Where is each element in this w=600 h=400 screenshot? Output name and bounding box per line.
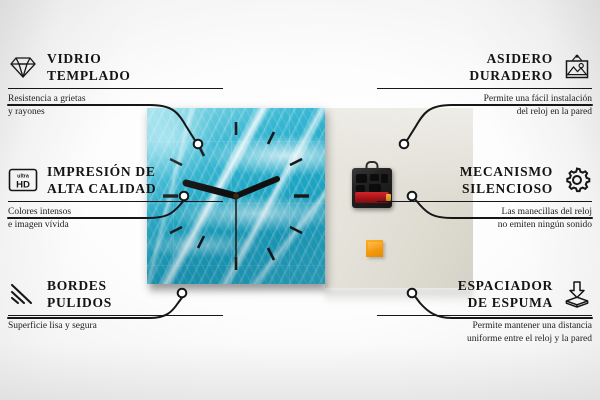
feature-title: BORDES PULIDOS — [47, 277, 112, 312]
feature-impresion-alta-calidad: ultra HD IMPRESIÓN DE ALTA CALIDAD Color… — [8, 163, 223, 231]
gear-icon — [562, 165, 592, 195]
connector-dot-vidrio — [194, 140, 203, 149]
feature-divider — [377, 315, 592, 317]
feature-divider — [8, 315, 223, 317]
svg-text:HD: HD — [16, 180, 30, 191]
polished-edges-icon — [8, 279, 38, 309]
feature-description: Las manecillas del reloj no emiten ningú… — [377, 206, 592, 231]
feature-title: IMPRESIÓN DE ALTA CALIDAD — [47, 163, 156, 198]
feature-vidrio-templado: VIDRIO TEMPLADO Resistencia a grietas y … — [8, 50, 223, 118]
feature-description: Permite una fácil instalación del reloj … — [377, 93, 592, 118]
feature-divider — [377, 88, 592, 90]
hanging-frame-icon — [562, 52, 592, 82]
feature-espaciador-de-espuma: ESPACIADOR DE ESPUMA Permite mantener un… — [377, 277, 592, 345]
feature-asidero-duradero: ASIDERO DURADERO Permite una fácil insta… — [377, 50, 592, 118]
feature-description: Resistencia a grietas y rayones — [8, 93, 223, 118]
feature-title: VIDRIO TEMPLADO — [47, 50, 131, 85]
feature-title: ESPACIADOR DE ESPUMA — [458, 277, 553, 312]
feature-divider — [377, 201, 592, 203]
feature-description: Permite mantener una distancia uniforme … — [377, 320, 592, 345]
feature-description: Colores intensos e imagen vívida — [8, 206, 223, 231]
feature-description: Superficie lisa y segura — [8, 320, 223, 333]
diamond-icon — [8, 52, 38, 82]
feature-title: MECANISMO SILENCIOSO — [460, 163, 553, 198]
feature-title: ASIDERO DURADERO — [469, 50, 553, 85]
ultra-hd-icon: ultra HD — [8, 165, 38, 195]
feature-divider — [8, 201, 223, 203]
feature-mecanismo-silencioso: MECANISMO SILENCIOSO Las manecillas del … — [377, 163, 592, 231]
feature-bordes-pulidos: BORDES PULIDOS Superficie lisa y segura — [8, 277, 223, 333]
connector-dot-asidero — [400, 140, 409, 149]
feature-divider — [8, 88, 223, 90]
foam-spacer-icon — [562, 279, 592, 309]
